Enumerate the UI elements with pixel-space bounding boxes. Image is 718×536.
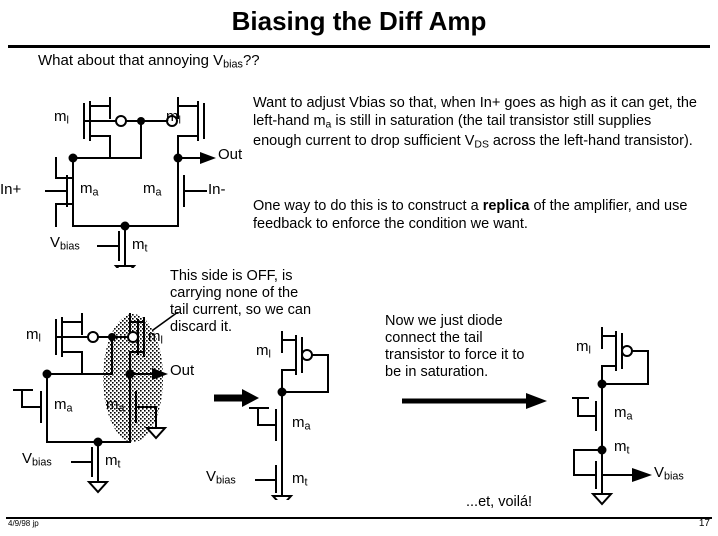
label-mt-bl: mt <box>105 452 121 470</box>
para2-emphasis: replica <box>483 198 530 214</box>
label-in-minus: In- <box>208 181 226 198</box>
label-out: Out <box>218 146 242 163</box>
subheading-suffix: ?? <box>243 52 260 69</box>
subheading-text: What about that annoying V <box>38 52 223 69</box>
title-divider <box>8 45 710 48</box>
arrow-2-svg <box>400 390 548 412</box>
para1-part-c: across the left-hand transistor). <box>489 133 693 149</box>
circuit-diagram-half-replica: ml ma Vbias mt <box>248 330 378 500</box>
footer-divider <box>6 517 712 519</box>
footer-date: 4/9/98 jp <box>8 519 39 528</box>
diode-connected-svg <box>572 326 718 506</box>
ground-symbol-right-gate <box>147 428 165 438</box>
para2-part-a: One way to do this is to construct a <box>253 198 483 214</box>
label-mt-br: mt <box>614 438 630 456</box>
label-ma-br: ma <box>614 404 633 422</box>
circuit-diagram-diff-amp: ml ml Out In+ In- ma ma Vbias mt <box>28 96 260 268</box>
paragraph-replica: One way to do this is to construct a rep… <box>253 198 701 233</box>
paragraph-adjust-vbias: Want to adjust Vbias so that, when In+ g… <box>253 95 701 154</box>
callout-diode-connect: Now we just diode connect the tail trans… <box>385 313 535 381</box>
label-ma-right-2: ma <box>106 396 125 414</box>
para1-sub-ds: DS <box>474 140 489 151</box>
ground-symbol-mid <box>273 496 291 500</box>
label-ma-left: ma <box>80 180 99 198</box>
label-ma-left-2: ma <box>54 396 73 414</box>
label-ml-br: ml <box>576 338 591 356</box>
vbias-arrowhead <box>632 468 652 482</box>
label-vbias-top: Vbias <box>50 234 80 252</box>
label-ma-mid: ma <box>292 414 311 432</box>
ground-symbol-br <box>593 494 611 504</box>
subheading-subscript: bias <box>223 58 243 70</box>
label-mt-top: mt <box>132 236 148 254</box>
subheading: What about that annoying Vbias?? <box>38 52 260 70</box>
closing-note: ...et, voilá! <box>466 494 532 510</box>
label-ml-right-2: ml <box>148 328 163 346</box>
label-vbias-mid: Vbias <box>206 468 236 486</box>
pmos-bubble-left-2 <box>88 332 98 342</box>
slide-canvas: Biasing the Diff Amp What about that ann… <box>0 0 718 536</box>
pmos-bubble-left <box>116 116 126 126</box>
transition-arrow-2 <box>400 390 548 412</box>
circuit-diagram-diode-connected: ml ma mt Vbias <box>572 326 718 506</box>
ground-symbol-top <box>116 266 134 268</box>
circuit-diagram-replica-shaded: ml ml Out ma ma Vbias mt <box>10 312 210 502</box>
label-ma-right: ma <box>143 180 162 198</box>
out-arrowhead <box>200 152 216 164</box>
label-ml-left-2: ml <box>26 326 41 344</box>
label-mt-mid: mt <box>292 470 308 488</box>
page-title: Biasing the Diff Amp <box>0 6 718 37</box>
callout-discard-side: This side is OFF, is carrying none of th… <box>170 268 320 336</box>
label-ml-mid: ml <box>256 342 271 360</box>
label-ml-right: ml <box>166 108 181 126</box>
label-out-2: Out <box>170 362 194 379</box>
pmos-bubble-right-2 <box>128 332 138 342</box>
label-in-plus: In+ <box>0 181 21 198</box>
pmos-bubble-mid <box>302 350 312 360</box>
label-vbias-bl: Vbias <box>22 450 52 468</box>
label-vbias-br: Vbias <box>654 464 684 482</box>
footer-page-number: 17 <box>699 518 710 529</box>
ground-symbol-bl <box>89 482 107 492</box>
label-ml-left: ml <box>54 108 69 126</box>
pmos-bubble-br <box>622 346 632 356</box>
